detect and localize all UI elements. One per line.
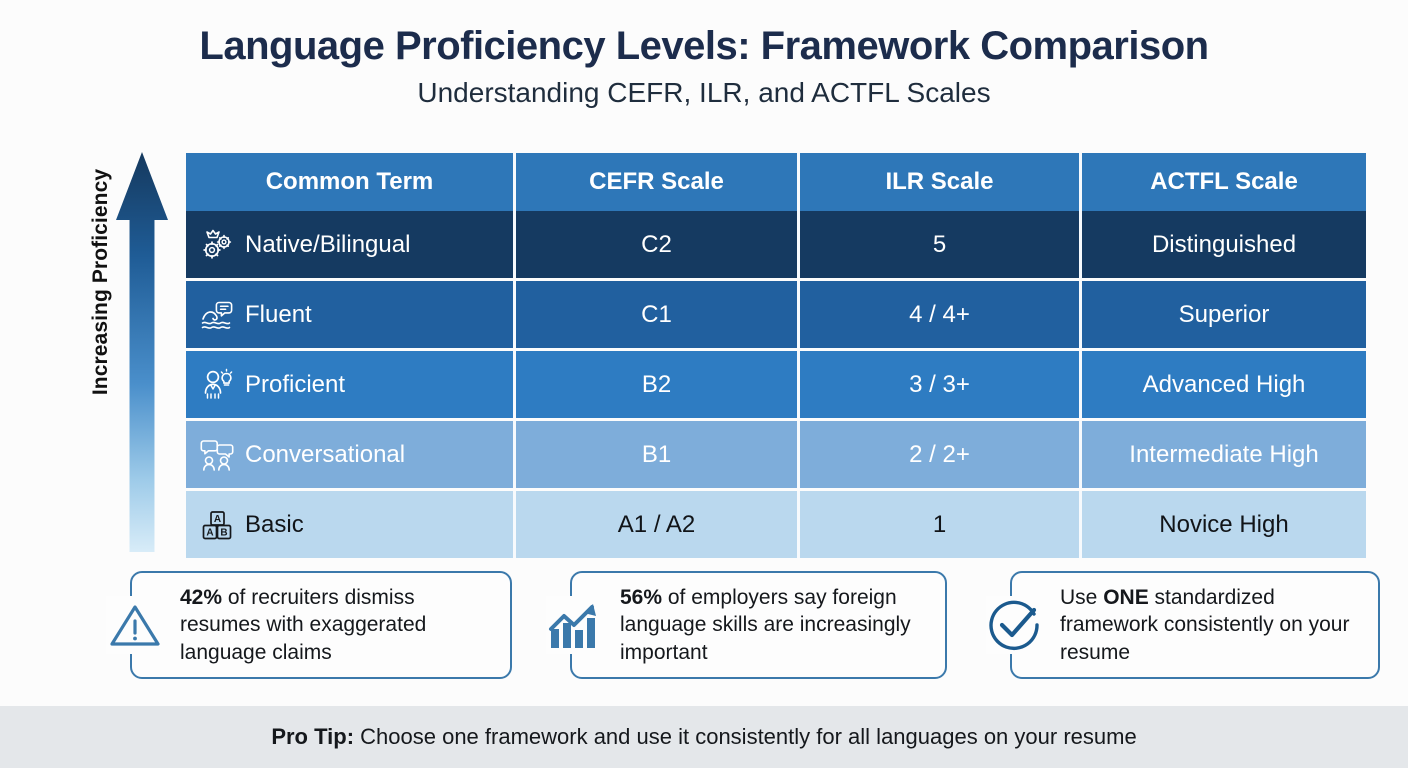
framework-comparison-table: Common Term CEFR Scale ILR Scale ACTFL S… bbox=[186, 153, 1366, 558]
svg-text:B: B bbox=[220, 527, 227, 538]
table-header-row: Common Term CEFR Scale ILR Scale ACTFL S… bbox=[186, 153, 1366, 211]
proficiency-axis: Increasing Proficiency bbox=[38, 152, 178, 552]
callout-stat: ONE bbox=[1103, 586, 1149, 609]
crown-gears-icon bbox=[200, 228, 234, 262]
person-lightbulb-icon bbox=[200, 368, 234, 402]
cell-actfl: Superior bbox=[1082, 281, 1366, 348]
table-header: Common Term CEFR Scale ILR Scale ACTFL S… bbox=[186, 153, 1366, 211]
cell-actfl: Distinguished bbox=[1082, 211, 1366, 278]
page-header: Language Proficiency Levels: Framework C… bbox=[0, 0, 1408, 109]
cell-actfl: Advanced High bbox=[1082, 351, 1366, 418]
term-label: Proficient bbox=[245, 373, 345, 397]
cell-actfl: Intermediate High bbox=[1082, 421, 1366, 488]
table-row: Conversational B1 2 / 2+ Intermediate Hi… bbox=[186, 421, 1366, 488]
callout-text: Use ONE standardized framework consisten… bbox=[1012, 584, 1378, 666]
page-title: Language Proficiency Levels: Framework C… bbox=[0, 24, 1408, 69]
term-label: Conversational bbox=[245, 443, 405, 467]
term-label: Fluent bbox=[245, 303, 312, 327]
svg-text:A: A bbox=[214, 514, 221, 525]
cell-ilr: 2 / 2+ bbox=[800, 421, 1082, 488]
wave-speech-bubble-icon bbox=[200, 298, 234, 332]
up-arrow-icon bbox=[116, 152, 168, 552]
column-header-actfl-scale: ACTFL Scale bbox=[1082, 153, 1366, 211]
callout-text: 42% of recruiters dismiss resumes with e… bbox=[132, 584, 510, 666]
cell-cefr: B1 bbox=[516, 421, 800, 488]
term-label: Native/Bilingual bbox=[245, 233, 410, 257]
cell-common-term: Proficient bbox=[186, 351, 516, 418]
warning-triangle-icon bbox=[106, 596, 164, 654]
term-label: Basic bbox=[245, 513, 304, 537]
cell-actfl: Novice High bbox=[1082, 491, 1366, 558]
cell-ilr: 1 bbox=[800, 491, 1082, 558]
pro-tip-label: Pro Tip: bbox=[271, 724, 354, 749]
cell-ilr: 4 / 4+ bbox=[800, 281, 1082, 348]
page-subtitle: Understanding CEFR, ILR, and ACTFL Scale… bbox=[0, 77, 1408, 109]
pro-tip-body: Choose one framework and use it consiste… bbox=[354, 724, 1137, 749]
callout-lead: Use bbox=[1060, 586, 1103, 609]
table-row: Fluent C1 4 / 4+ Superior bbox=[186, 281, 1366, 348]
cell-common-term: Native/Bilingual bbox=[186, 211, 516, 278]
column-header-common-term: Common Term bbox=[186, 153, 516, 211]
proficiency-axis-label: Increasing Proficiency bbox=[89, 157, 113, 407]
cell-cefr: B2 bbox=[516, 351, 800, 418]
cell-cefr: C2 bbox=[516, 211, 800, 278]
callout-group: 42% of recruiters dismiss resumes with e… bbox=[130, 571, 1380, 681]
column-header-ilr-scale: ILR Scale bbox=[800, 153, 1082, 211]
alphabet-blocks-icon: A A B bbox=[200, 508, 234, 542]
callout-rest: of employers say foreign language skills… bbox=[620, 586, 911, 664]
cell-common-term: A A B Basic bbox=[186, 491, 516, 558]
table-row: Proficient B2 3 / 3+ Advanced High bbox=[186, 351, 1366, 418]
table-row: Native/Bilingual C2 5 Distinguished bbox=[186, 211, 1366, 278]
callout-card: Use ONE standardized framework consisten… bbox=[1010, 571, 1380, 679]
callout-stat: 56% bbox=[620, 586, 662, 609]
two-people-speech-icon bbox=[200, 438, 234, 472]
cell-ilr: 5 bbox=[800, 211, 1082, 278]
cell-common-term: Conversational bbox=[186, 421, 516, 488]
callout-card: 42% of recruiters dismiss resumes with e… bbox=[130, 571, 512, 679]
table-row: A A B Basic A1 / A2 1 Novice High bbox=[186, 491, 1366, 558]
callout-card: 56% of employers say foreign language sk… bbox=[570, 571, 947, 679]
cell-common-term: Fluent bbox=[186, 281, 516, 348]
growth-chart-icon bbox=[546, 596, 604, 654]
cell-ilr: 3 / 3+ bbox=[800, 351, 1082, 418]
column-header-cefr-scale: CEFR Scale bbox=[516, 153, 800, 211]
cell-cefr: C1 bbox=[516, 281, 800, 348]
svg-text:A: A bbox=[206, 527, 213, 538]
callout-text: 56% of employers say foreign language sk… bbox=[572, 584, 945, 666]
callout-stat: 42% bbox=[180, 586, 222, 609]
footer-bar: Pro Tip: Choose one framework and use it… bbox=[0, 706, 1408, 768]
pro-tip-text: Pro Tip: Choose one framework and use it… bbox=[271, 724, 1136, 750]
cell-cefr: A1 / A2 bbox=[516, 491, 800, 558]
check-circle-icon bbox=[986, 596, 1044, 654]
